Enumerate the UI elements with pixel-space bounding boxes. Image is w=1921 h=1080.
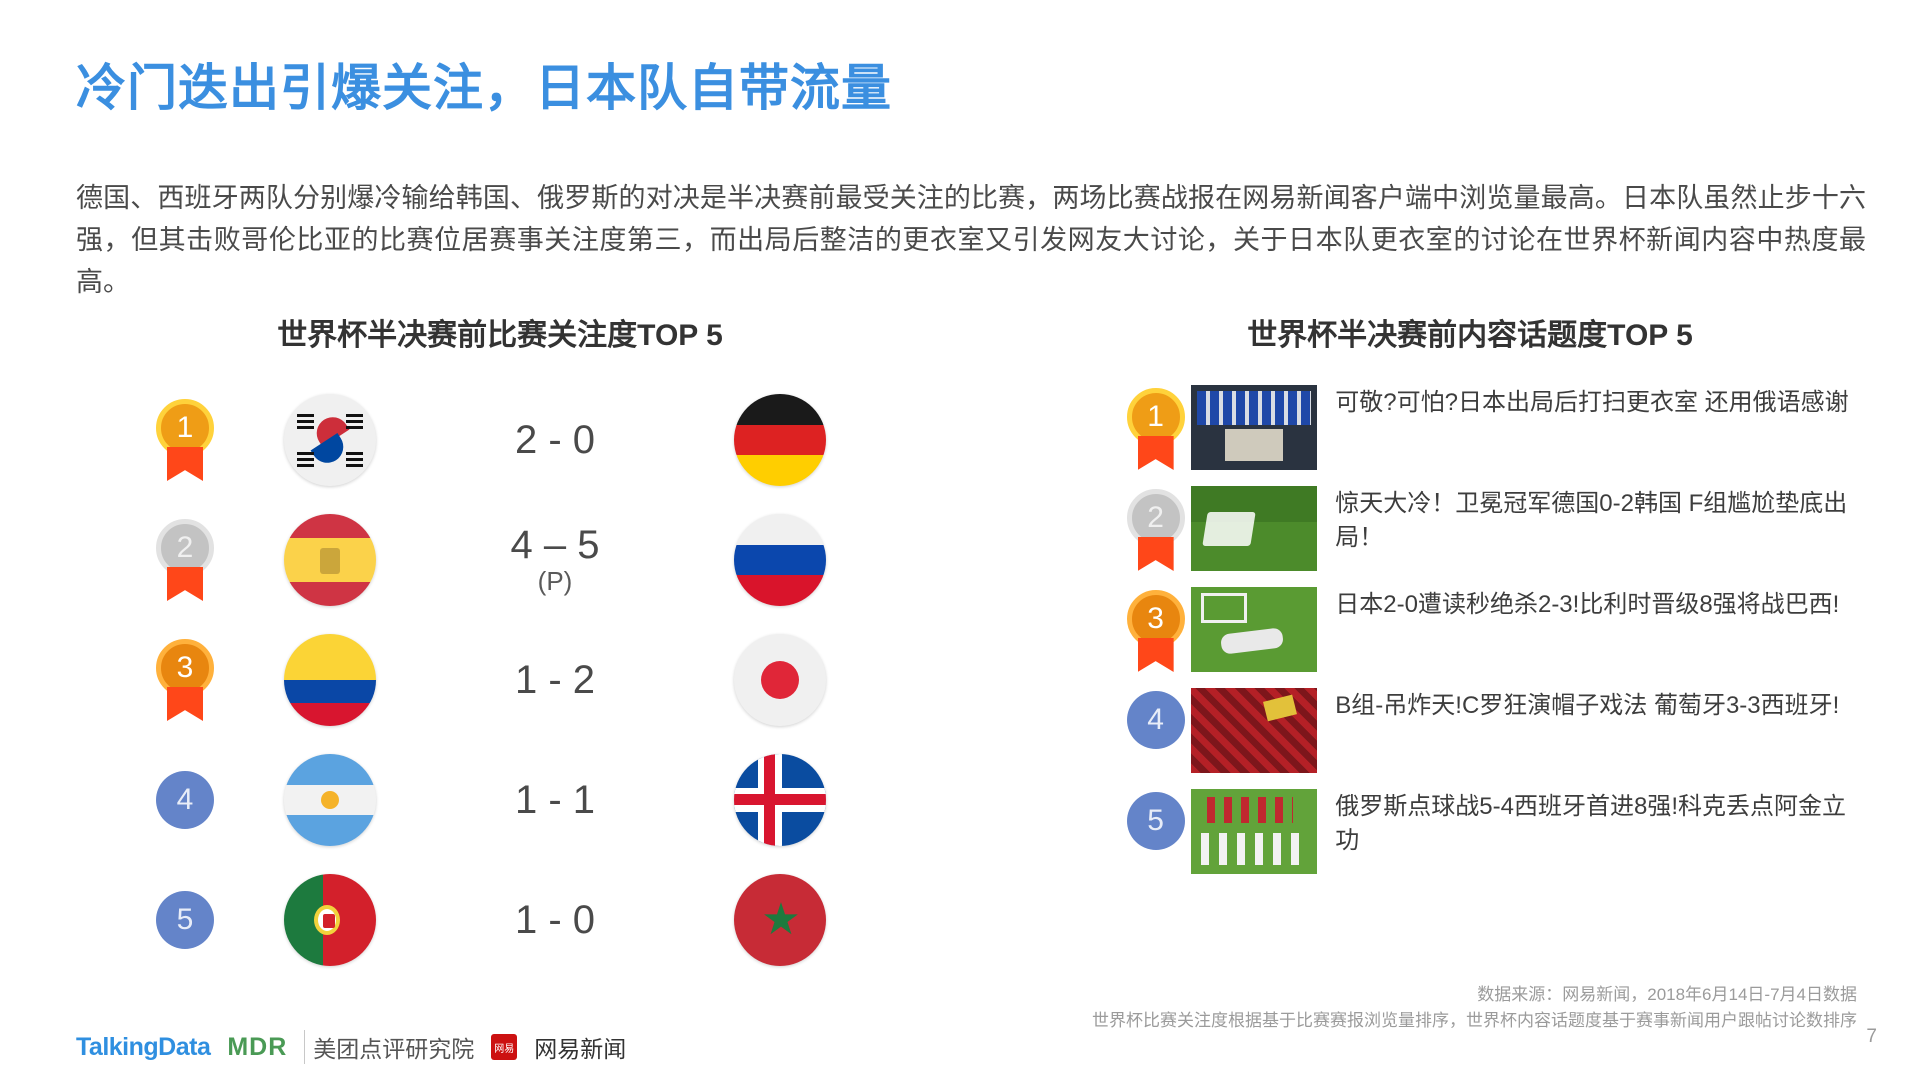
topic-headline: 俄罗斯点球战5-4西班牙首进8强!科克丢点阿金立功: [1335, 789, 1860, 858]
away-flag-cell: [690, 394, 870, 486]
flag-morocco-icon: ★: [734, 874, 826, 966]
ribbon-icon: [167, 567, 203, 601]
source-note: 数据来源：网易新闻，2018年6月14日-7月4日数据 世界杯比赛关注度根据基于…: [757, 982, 1857, 1033]
rank-cell: 4: [130, 771, 240, 829]
topic-headline: 可敬?可怕?日本出局后打扫更衣室 还用俄语感谢: [1335, 385, 1860, 420]
ribbon-icon: [167, 687, 203, 721]
list-item[interactable]: 2 惊天大冷！卫冕冠军德国0-2韩国 F组尴尬垫底出局！: [1120, 486, 1860, 587]
source-line-1: 数据来源：网易新闻，2018年6月14日-7月4日数据: [757, 982, 1857, 1008]
ribbon-icon: [167, 447, 203, 481]
footer-logos: TalkingData MDR 美团点评研究院 网易 网易新闻: [76, 1030, 626, 1064]
medal-bronze-icon: 3: [156, 639, 214, 721]
flag-iceland-icon: [734, 754, 826, 846]
match-attention-table: 1 2 - 0 2: [130, 380, 870, 980]
rank-cell: 4: [1120, 688, 1191, 749]
score-value: 4 – 5: [511, 523, 600, 567]
ribbon-icon: [1138, 638, 1174, 672]
thumbnail-players-on-grass: [1191, 587, 1317, 672]
score-value: 1 - 2: [515, 658, 595, 702]
rank-badge: 5: [156, 891, 214, 949]
away-flag-cell: [690, 754, 870, 846]
away-flag-cell: [690, 634, 870, 726]
away-flag-cell: [690, 514, 870, 606]
list-item[interactable]: 3 日本2-0遭读秒绝杀2-3!比利时晋级8强将战巴西!: [1120, 587, 1860, 688]
table-row: 2 4 – 5 (P): [130, 500, 870, 620]
score-cell: 1 - 2: [420, 659, 690, 701]
rank-cell: 2: [1120, 486, 1191, 571]
thumbnail-goal-save: [1191, 486, 1317, 571]
rank-badge: 4: [1127, 691, 1185, 749]
rank-badge: 4: [156, 771, 214, 829]
score-value: 1 - 1: [515, 778, 595, 822]
score-cell: 4 – 5 (P): [420, 524, 690, 595]
flag-japan-icon: [734, 634, 826, 726]
home-flag-cell: [240, 394, 420, 486]
page-number: 7: [1866, 1026, 1877, 1048]
page-title: 冷门迭出引爆关注，日本队自带流量: [76, 60, 1476, 118]
rank-cell: 2: [130, 519, 240, 601]
medal-bronze-icon: 3: [1127, 590, 1185, 672]
section-heading-topics: 世界杯半决赛前内容话题度TOP 5: [1120, 310, 1820, 354]
source-line-2: 世界杯比赛关注度根据基于比赛赛报浏览量排序，世界杯内容话题度基于赛事新闻用户跟帖…: [757, 1008, 1857, 1034]
home-flag-cell: [240, 874, 420, 966]
netease-news-logo: 网易新闻: [534, 1030, 626, 1064]
thumbnail-locker-room: [1191, 385, 1317, 470]
home-flag-cell: [240, 754, 420, 846]
score-value: 1 - 0: [515, 898, 595, 942]
rank-cell: 3: [1120, 587, 1191, 672]
flag-argentina-icon: [284, 754, 376, 846]
rank-cell: 5: [1120, 789, 1191, 850]
score-cell: 2 - 0: [420, 419, 690, 461]
rank-badge: 5: [1127, 792, 1185, 850]
medal-silver-icon: 2: [1127, 489, 1185, 571]
medal-silver-icon: 2: [156, 519, 214, 601]
flag-spain-icon: [284, 514, 376, 606]
list-item[interactable]: 4 B组-吊炸天!C罗狂演帽子戏法 葡萄牙3-3西班牙!: [1120, 688, 1860, 789]
flag-south-korea-icon: [284, 394, 376, 486]
list-item[interactable]: 1 可敬?可怕?日本出局后打扫更衣室 还用俄语感谢: [1120, 385, 1860, 486]
topic-headline: 惊天大冷！卫冕冠军德国0-2韩国 F组尴尬垫底出局！: [1335, 486, 1860, 555]
netease-mark-icon: 网易: [491, 1034, 517, 1060]
table-row: 1 2 - 0: [130, 380, 870, 500]
topic-headline: 日本2-0遭读秒绝杀2-3!比利时晋级8强将战巴西!: [1335, 587, 1860, 622]
score-note: (P): [420, 568, 690, 595]
home-flag-cell: [240, 634, 420, 726]
away-flag-cell: ★: [690, 874, 870, 966]
table-row: 5 1 - 0 ★: [130, 860, 870, 980]
table-row: 4 1 - 1: [130, 740, 870, 860]
ribbon-icon: [1138, 436, 1174, 470]
intro-paragraph: 德国、西班牙两队分别爆冷输给韩国、俄罗斯的对决是半决赛前最受关注的比赛，两场比赛…: [76, 178, 1866, 304]
table-row: 3 1 - 2: [130, 620, 870, 740]
flag-russia-icon: [734, 514, 826, 606]
rank-cell: 1: [130, 399, 240, 481]
score-cell: 1 - 1: [420, 779, 690, 821]
rank-cell: 5: [130, 891, 240, 949]
talkingdata-logo: TalkingData: [76, 1033, 210, 1062]
flag-colombia-icon: [284, 634, 376, 726]
thumbnail-team-celebration: [1191, 789, 1317, 874]
thumbnail-red-crowd: [1191, 688, 1317, 773]
list-item[interactable]: 5 俄罗斯点球战5-4西班牙首进8强!科克丢点阿金立功: [1120, 789, 1860, 890]
section-heading-matches: 世界杯半决赛前比赛关注度TOP 5: [180, 310, 820, 354]
score-cell: 1 - 0: [420, 899, 690, 941]
meituan-research-logo: 美团点评研究院: [304, 1030, 474, 1064]
rank-cell: 1: [1120, 385, 1191, 470]
ribbon-icon: [1138, 537, 1174, 571]
medal-gold-icon: 1: [156, 399, 214, 481]
medal-gold-icon: 1: [1127, 388, 1185, 470]
topic-ranking-list: 1 可敬?可怕?日本出局后打扫更衣室 还用俄语感谢 2 惊天大冷！卫冕冠军德国0…: [1120, 385, 1860, 890]
score-value: 2 - 0: [515, 418, 595, 462]
home-flag-cell: [240, 514, 420, 606]
mdr-logo: MDR: [227, 1033, 287, 1062]
topic-headline: B组-吊炸天!C罗狂演帽子戏法 葡萄牙3-3西班牙!: [1335, 688, 1860, 723]
rank-cell: 3: [130, 639, 240, 721]
flag-germany-icon: [734, 394, 826, 486]
flag-portugal-icon: [284, 874, 376, 966]
